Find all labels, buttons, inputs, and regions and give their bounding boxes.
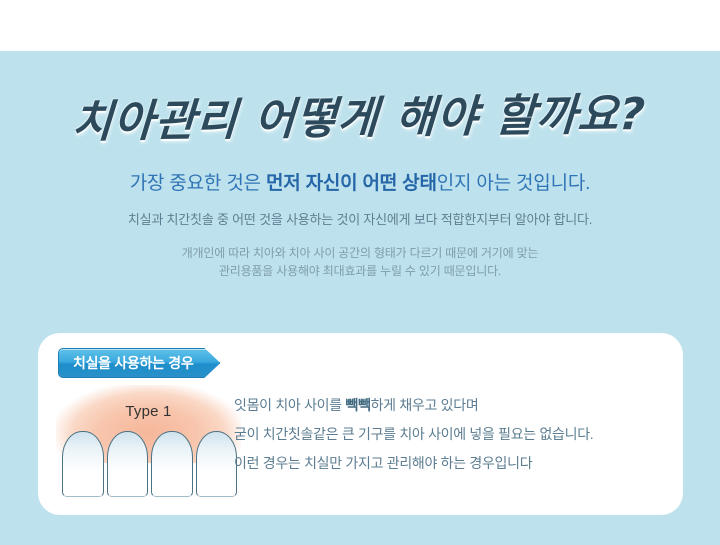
card-body-line-before: 이런 경우는 치실만 가지고 관리해야 하는 경우입니다 (234, 455, 532, 471)
teeth-illustration: Type 1 (56, 385, 241, 497)
note-paragraph: 개개인에 따라 치아와 치아 사이 공간의 형태가 다르기 때문에 거기에 맞는… (0, 228, 720, 280)
card-body-line-before: 잇몸이 치아 사이를 (234, 397, 345, 413)
tooth-icon (196, 431, 238, 497)
tooth-icon (151, 431, 193, 497)
card-body-text: 잇몸이 치아 사이를 빽빽하게 채우고 있다며 굳이 치간칫솔같은 큰 기구를 … (234, 395, 664, 473)
hero-section: 치아관리 어떻게 해야 할까요? 가장 중요한 것은 먼저 자신이 어떤 상태인… (0, 51, 720, 280)
subheadline-part1: 가장 중요한 것은 (130, 173, 266, 194)
tooth-icon (62, 431, 104, 497)
top-white-band (0, 0, 720, 51)
card-body-line-emphasis: 빽빽 (345, 397, 370, 413)
badge-label: 치실을 사용하는 경우 (73, 353, 193, 373)
note-line: 치실과 치간칫솔 중 어떤 것을 사용하는 것이 자신에게 보다 적합한지부터 … (0, 195, 720, 228)
card-body-line-after: 하게 채우고 있다며 (371, 397, 479, 413)
card-body-line: 이런 경우는 치실만 가지고 관리해야 하는 경우입니다 (234, 453, 664, 473)
card-body-line-before: 굳이 치간칫솔같은 큰 기구를 치아 사이에 넣을 필요는 없습니다. (234, 426, 593, 442)
teeth-row (62, 431, 237, 497)
card-body-line: 굳이 치간칫솔같은 큰 기구를 치아 사이에 넣을 필요는 없습니다. (234, 424, 664, 444)
subheadline-part2: 인지 아는 것입니다. (437, 173, 590, 194)
page-title: 치아관리 어떻게 해야 할까요? (0, 46, 720, 151)
note-paragraph-line-2: 관리용품을 사용해야 최대효과를 누릴 수 있기 때문입니다. (0, 262, 720, 280)
subheadline: 가장 중요한 것은 먼저 자신이 어떤 상태인지 아는 것입니다. (0, 146, 720, 195)
floss-case-card: 치실을 사용하는 경우 Type 1 잇몸이 치아 사이를 빽빽하게 채우고 있… (38, 333, 683, 515)
card-body-line: 잇몸이 치아 사이를 빽빽하게 채우고 있다며 (234, 395, 664, 415)
infographic-page: 치아관리 어떻게 해야 할까요? 가장 중요한 것은 먼저 자신이 어떤 상태인… (0, 0, 720, 545)
note-paragraph-line-1: 개개인에 따라 치아와 치아 사이 공간의 형태가 다르기 때문에 거기에 맞는 (0, 244, 720, 262)
subheadline-emphasis: 먼저 자신이 어떤 상태 (266, 173, 437, 194)
badge-floss-case: 치실을 사용하는 경우 (58, 348, 220, 378)
type-label: Type 1 (56, 403, 241, 420)
tooth-icon (107, 431, 149, 497)
